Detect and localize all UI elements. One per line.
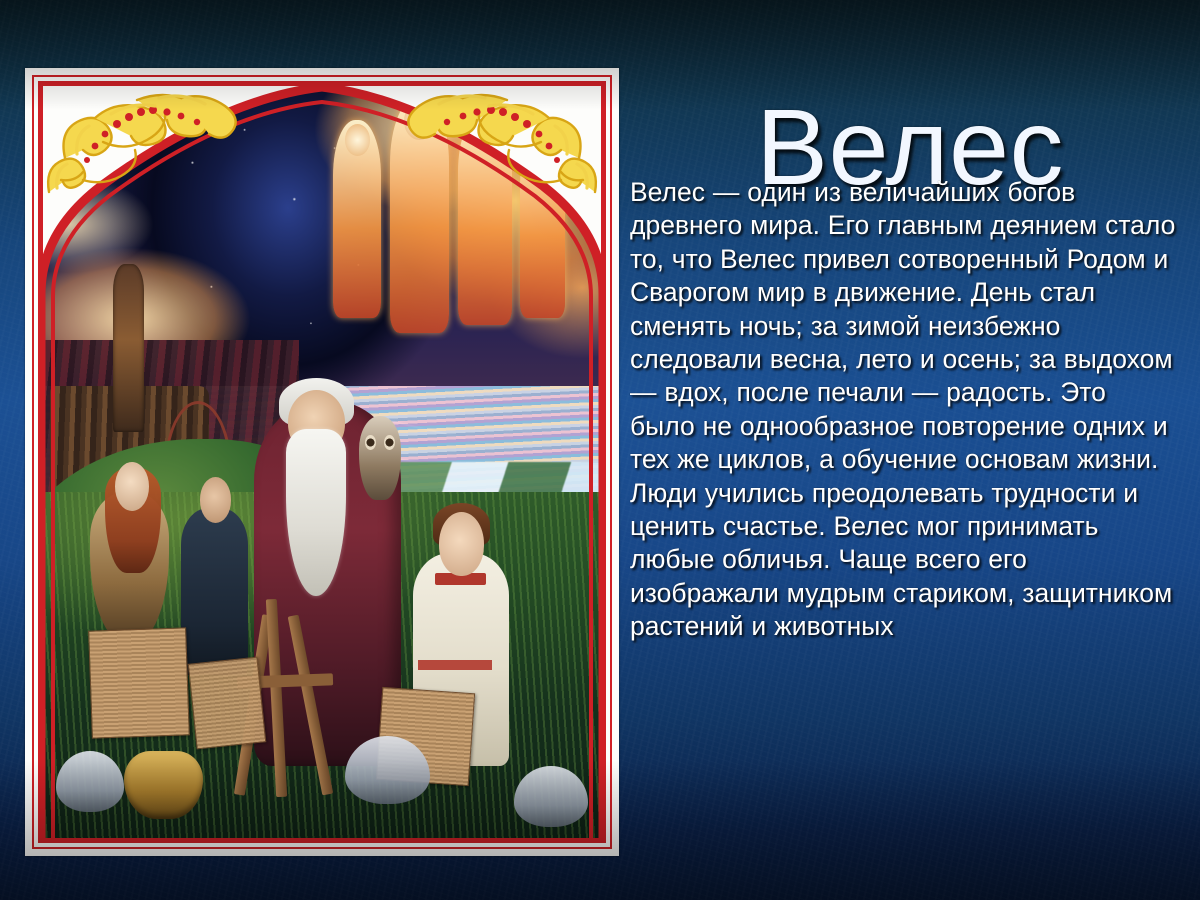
golden-vessel [124,751,203,819]
painted-scene [39,82,605,842]
boy-belt [418,660,492,671]
owl-eye [365,435,376,450]
god-figure [520,135,565,317]
owl [359,416,401,500]
illustration-artwork [39,82,605,842]
god-head [531,139,555,168]
presentation-slide: Велес Велес — один из величайших богов д… [0,0,1200,900]
god-head [404,102,435,140]
wooden-tablet [88,628,190,740]
god-figure [390,97,449,333]
god-figure [333,120,381,318]
illustration-card [25,68,619,856]
wooden-idol [113,264,144,431]
standing-man-head [200,477,232,523]
god-figure [458,112,512,325]
sirin-head [115,462,149,511]
god-head [471,117,499,151]
slide-body-text: Велес — один из величайших богов древнег… [630,176,1178,644]
wooden-tablet [188,656,266,748]
standing-man [181,508,249,675]
god-head [345,124,370,156]
owl-eye [384,435,395,450]
boy-head [439,512,484,576]
